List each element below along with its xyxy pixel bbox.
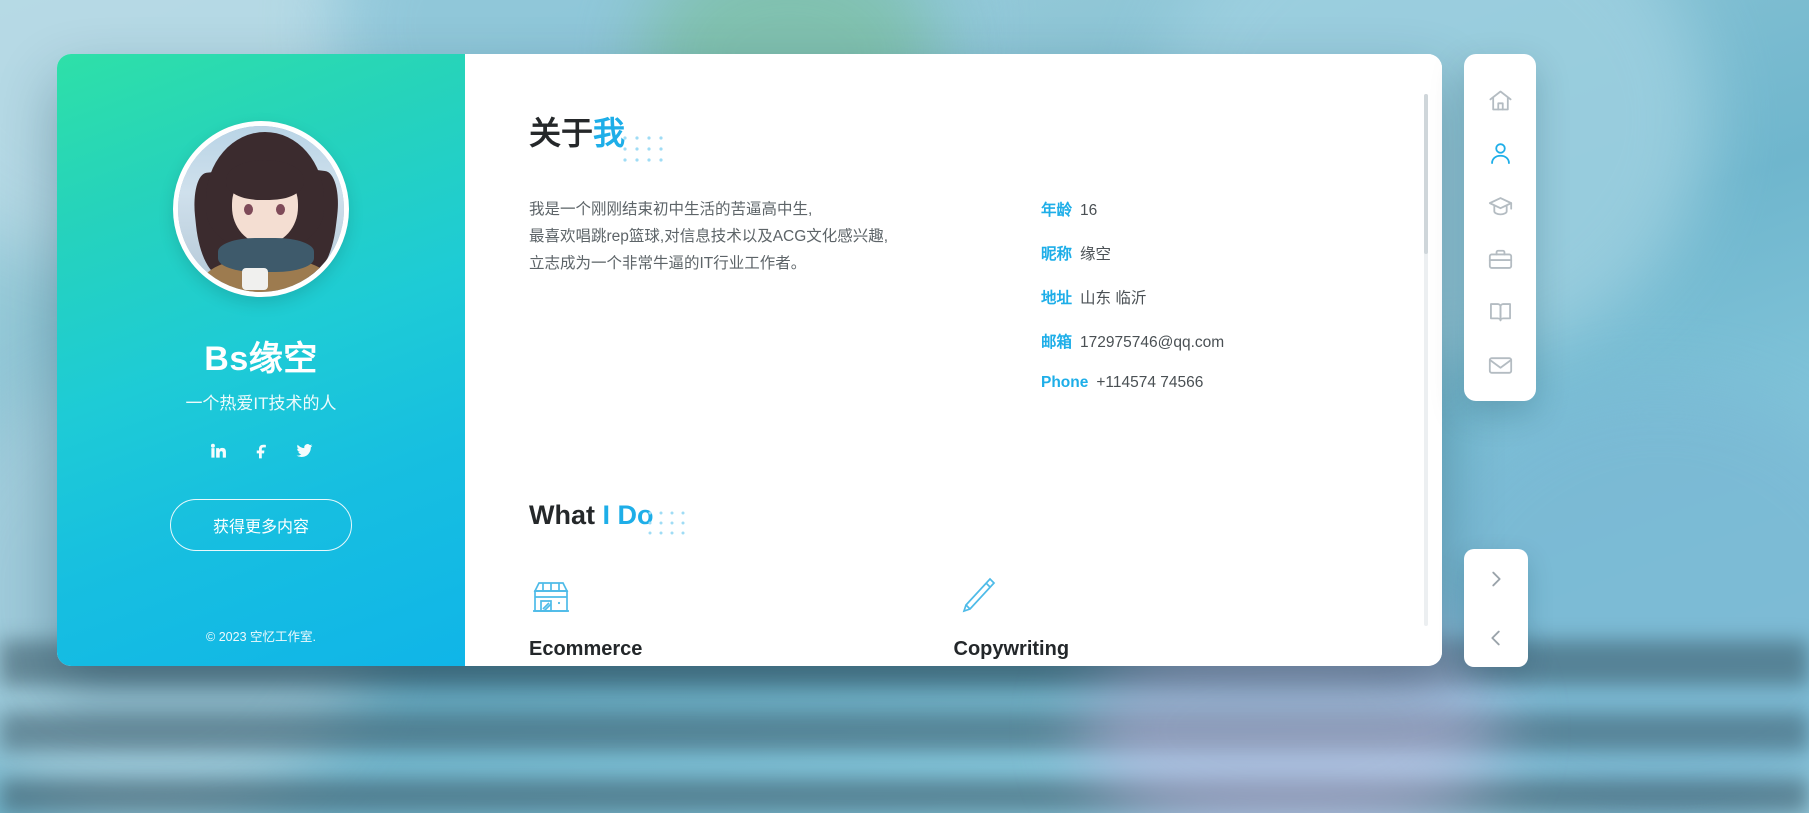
dock-item-home[interactable] [1464, 74, 1536, 127]
navigation-dock [1464, 54, 1536, 401]
wallpaper-stripe [0, 778, 1809, 813]
dock-item-blog[interactable] [1464, 286, 1536, 339]
avatar-bangs [226, 160, 304, 200]
pencil-icon [954, 575, 1379, 617]
scrollbar-thumb[interactable] [1424, 94, 1428, 254]
about-heading: 关于我 [529, 108, 625, 154]
about-heading-highlight: 我 [593, 115, 625, 151]
services-list: Ecommerce Pellentesque pellentesque,ipsu… [529, 575, 1378, 666]
service-heading: Ecommerce [529, 638, 954, 661]
wallpaper-stripe [0, 712, 1809, 752]
info-value: 172975746@qq.com [1080, 334, 1224, 351]
info-row-phone: Phone+114574 74566 [1041, 374, 1224, 392]
about-paragraph: 我是一个刚刚结束初中生活的苦逼高中生, 最喜欢唱跳rep篮球,对信息技术以及AC… [529, 196, 999, 414]
whatido-heading-highlight: I Do [603, 500, 654, 530]
info-value: 山东 临沂 [1080, 290, 1146, 307]
dock-item-work[interactable] [1464, 233, 1536, 286]
twitter-icon[interactable] [295, 441, 314, 460]
dot-pattern-decoration [646, 507, 710, 543]
info-label: 昵称 [1041, 246, 1072, 263]
info-label: Phone [1041, 374, 1088, 391]
storefront-icon [529, 575, 954, 617]
info-label: 年龄 [1041, 202, 1072, 219]
about-line: 最喜欢唱跳rep篮球,对信息技术以及ACG文化感兴趣, [529, 223, 999, 250]
person-icon [1487, 140, 1514, 167]
dock-item-contact[interactable] [1464, 339, 1536, 392]
whatido-heading-plain: What [529, 500, 603, 530]
avatar-eye-right [276, 204, 285, 215]
envelope-icon [1487, 352, 1514, 379]
service-heading: Copywriting [954, 638, 1379, 661]
about-section: 我是一个刚刚结束初中生活的苦逼高中生, 最喜欢唱跳rep篮球,对信息技术以及AC… [529, 196, 1378, 414]
info-value: +114574 74566 [1096, 374, 1203, 391]
next-page-button[interactable] [1464, 549, 1528, 608]
profile-name: Bs缘空 [204, 331, 317, 380]
about-line: 立志成为一个非常牛逼的IT行业工作者。 [529, 250, 999, 277]
dock-item-about[interactable] [1464, 127, 1536, 180]
graduation-cap-icon [1487, 193, 1514, 220]
copyright-text: © 2023 空忆工作室. [57, 626, 465, 645]
profile-card: Bs缘空 一个热爱IT技术的人 获得更多内容 © 2023 空忆工作室. 关于我 [57, 54, 1442, 666]
avatar-cup [242, 268, 268, 290]
book-icon [1487, 299, 1514, 326]
profile-sidebar: Bs缘空 一个热爱IT技术的人 获得更多内容 © 2023 空忆工作室. [57, 54, 465, 666]
facebook-icon[interactable] [252, 441, 271, 460]
about-line: 我是一个刚刚结束初中生活的苦逼高中生, [529, 196, 999, 223]
info-value: 缘空 [1080, 246, 1111, 263]
linkedin-icon[interactable] [209, 441, 228, 460]
info-row-address: 地址山东 临沂 [1041, 286, 1224, 308]
get-more-content-button[interactable]: 获得更多内容 [170, 499, 352, 551]
chevron-right-icon [1485, 568, 1507, 590]
social-links [209, 441, 314, 460]
info-row-age: 年龄16 [1041, 198, 1224, 220]
personal-info-list: 年龄16 昵称缘空 地址山东 临沂 邮箱172975746@qq.com Pho… [1041, 196, 1224, 414]
avatar-scarf [218, 238, 314, 272]
dot-pattern-decoration [621, 132, 685, 168]
whatido-section: What I Do [529, 500, 1378, 666]
content-panel: 关于我 我是一个刚刚结束初中生活的苦逼高中生, 最喜欢唱跳rep篮球,对信息技术… [465, 54, 1442, 666]
service-card-ecommerce: Ecommerce Pellentesque pellentesque,ipsu… [529, 575, 954, 666]
page-navigation [1464, 549, 1528, 667]
whatido-heading: What I Do [529, 500, 654, 531]
home-icon [1487, 87, 1514, 114]
briefcase-icon [1487, 246, 1514, 273]
dock-item-education[interactable] [1464, 180, 1536, 233]
about-heading-plain: 关于 [529, 115, 593, 151]
info-value: 16 [1080, 202, 1097, 219]
avatar-eye-left [244, 204, 253, 215]
service-card-copywriting: Copywriting Pellentesque pellentesque,ip… [954, 575, 1379, 666]
info-label: 地址 [1041, 290, 1072, 307]
chevron-left-icon [1485, 627, 1507, 649]
info-label: 邮箱 [1041, 334, 1072, 351]
avatar [173, 121, 349, 297]
profile-tagline: 一个热爱IT技术的人 [185, 389, 336, 414]
info-row-email: 邮箱172975746@qq.com [1041, 330, 1224, 352]
info-row-nickname: 昵称缘空 [1041, 242, 1224, 264]
previous-page-button[interactable] [1464, 608, 1528, 667]
